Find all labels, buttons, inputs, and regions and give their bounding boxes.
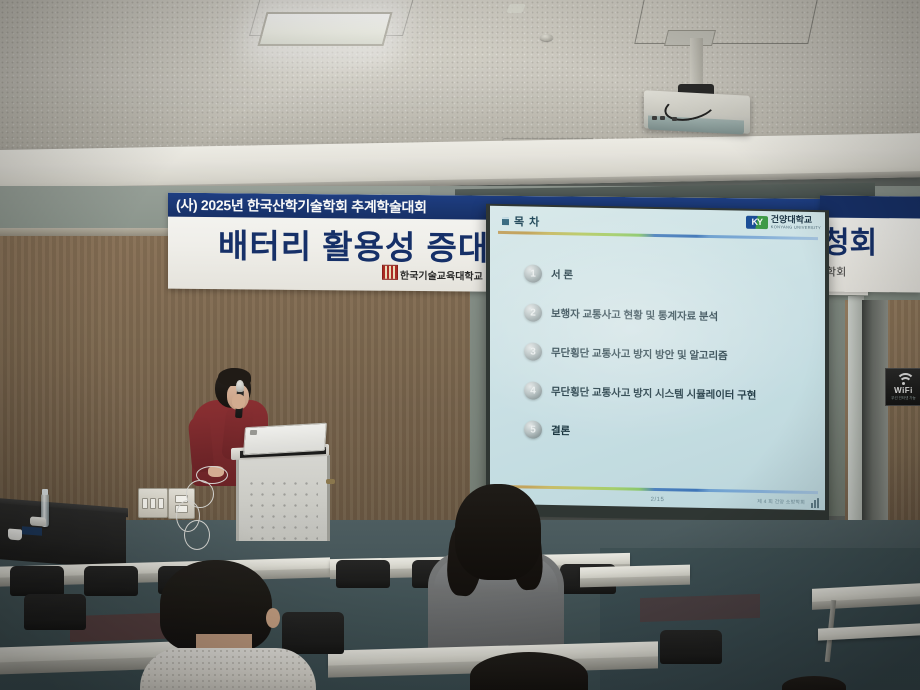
toc-item-label: 결론 bbox=[551, 422, 570, 437]
list-item: 4 무단횡단 교통사고 방지 시스템 시뮬레이터 구현 bbox=[524, 381, 809, 404]
ky-mark-icon: KY bbox=[746, 215, 768, 228]
lectern-perforated-panel bbox=[242, 474, 318, 540]
door-frame[interactable] bbox=[862, 300, 888, 550]
banner-right-top-strip bbox=[820, 196, 920, 219]
open-laptop[interactable] bbox=[243, 423, 327, 456]
banner-right-title: 청회 bbox=[822, 218, 877, 263]
wifi-label: WiFi bbox=[886, 386, 920, 395]
list-item: 5 결론 bbox=[524, 420, 809, 443]
wifi-sublabel: 무선 인터넷 가능 bbox=[886, 396, 920, 401]
tea-set[interactable] bbox=[30, 516, 46, 526]
chair[interactable] bbox=[660, 630, 722, 664]
toc-item-label: 무단횡단 교통사고 방지 방안 및 알고리즘 bbox=[551, 344, 728, 362]
toc-number-badge: 2 bbox=[524, 303, 542, 321]
banner-org-name: 한국기술교육대학교 bbox=[400, 267, 483, 283]
audience-member-hoodie-texture bbox=[140, 648, 316, 690]
presenter-hair bbox=[218, 368, 251, 386]
chair[interactable] bbox=[10, 566, 64, 596]
toc-number-badge: 3 bbox=[524, 342, 542, 360]
chair[interactable] bbox=[24, 594, 86, 630]
list-item: 2 보행자 교통사고 현황 및 통계자료 분석 bbox=[524, 303, 809, 326]
chair[interactable] bbox=[336, 560, 390, 588]
chair[interactable] bbox=[84, 566, 138, 596]
handheld-microphone bbox=[236, 380, 244, 392]
toc-item-label: 무단횡단 교통사고 방지 시스템 시뮬레이터 구현 bbox=[551, 383, 756, 402]
presentation-room-photo: WiFi 무선 인터넷 가능 (사) 2025년 한국산학기술학회 추계학술대회… bbox=[0, 0, 920, 690]
bullet-square-icon bbox=[502, 217, 509, 225]
led-panel-light bbox=[257, 12, 392, 46]
ceiling-tile bbox=[634, 0, 819, 44]
kut-crest-logo bbox=[382, 265, 398, 280]
name-card bbox=[22, 526, 42, 535]
power-cable bbox=[196, 466, 228, 484]
lectern-side-knob[interactable] bbox=[326, 479, 335, 484]
toc-number-badge: 5 bbox=[524, 420, 542, 438]
projector-port bbox=[652, 116, 657, 120]
university-name-en: KONYANG UNIVERSITY bbox=[771, 224, 821, 230]
laptop-logo bbox=[250, 430, 257, 435]
wifi-icon-dot bbox=[902, 382, 905, 385]
wifi-sign: WiFi 무선 인터넷 가능 bbox=[885, 368, 920, 406]
audience-member-head bbox=[455, 484, 541, 580]
projector-mount-pole bbox=[690, 38, 703, 90]
projector-port bbox=[660, 116, 665, 120]
banner-main-title: 배터리 활용성 증대 bbox=[218, 219, 489, 270]
slide-footer-bars bbox=[811, 498, 819, 508]
toc-item-label: 서 론 bbox=[551, 266, 573, 281]
toc-item-label: 보행자 교통사고 현황 및 통계자료 분석 bbox=[551, 305, 718, 323]
paper-cup[interactable] bbox=[8, 529, 22, 541]
smoke-detector-icon bbox=[540, 34, 553, 41]
water-bottle-cap bbox=[42, 489, 48, 495]
list-item: 3 무단횡단 교통사고 방지 방안 및 알고리즘 bbox=[524, 342, 809, 365]
toc-number-badge: 1 bbox=[524, 264, 542, 282]
presentation-slide: 목 차 KY 건양대학교 KONYANG UNIVERSITY 1 서 론 2 … bbox=[490, 206, 825, 510]
list-item: 1 서 론 bbox=[524, 264, 809, 287]
chair[interactable] bbox=[282, 612, 344, 654]
slide-gradient-rule-bottom bbox=[498, 485, 818, 494]
projector-port bbox=[672, 117, 677, 121]
university-logo: KY 건양대학교 KONYANG UNIVERSITY bbox=[746, 215, 821, 230]
mic-cable bbox=[184, 520, 210, 550]
slide-footer-text: 제 4 회 건양 소방학회 bbox=[757, 498, 805, 506]
slide-table-of-contents: 1 서 론 2 보행자 교통사고 현황 및 통계자료 분석 3 무단횡단 교통사… bbox=[524, 264, 809, 464]
conference-banner-right-fragment: 청회 학회 bbox=[820, 196, 920, 293]
led-panel-light-secondary bbox=[506, 4, 525, 13]
audience-member-ear bbox=[266, 608, 280, 628]
slide-title: 목 차 bbox=[514, 213, 540, 230]
presenter-hand-holding-mic bbox=[232, 394, 245, 409]
banner-right-sub: 학회 bbox=[826, 264, 846, 280]
light-switch-panel-left[interactable] bbox=[138, 488, 168, 518]
carpet-accent-stripe bbox=[640, 594, 760, 622]
toc-number-badge: 4 bbox=[524, 381, 542, 399]
